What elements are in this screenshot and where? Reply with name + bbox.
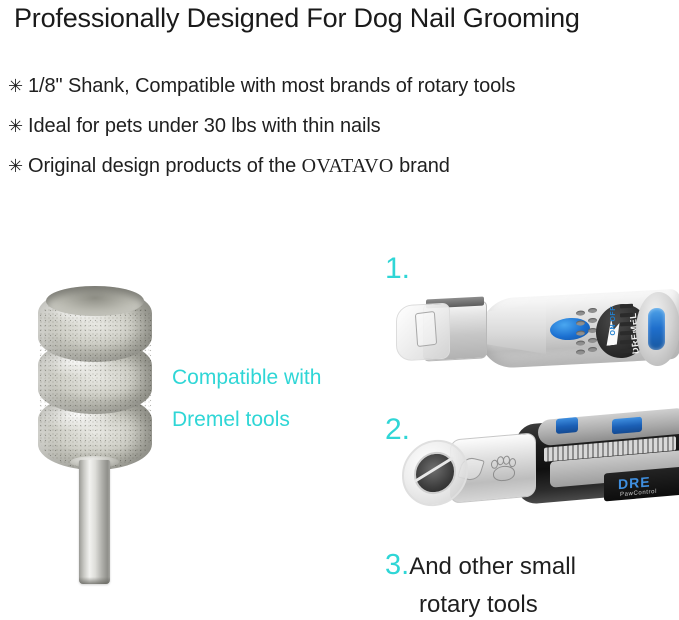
list-item: ✳ 1/8" Shank, Compatible with most brand…	[8, 66, 668, 106]
bullet-text: Original design products of the OVATAVO …	[28, 146, 450, 186]
rotary-tool-1-image: DREMEL ON OFF	[398, 282, 679, 378]
asterisk-icon: ✳	[8, 66, 28, 106]
paw-print-icon	[490, 455, 516, 481]
tool2-switch-a	[556, 417, 578, 434]
tool1-speed-dial	[648, 308, 665, 351]
tool1-switch-labels: ON OFF	[610, 306, 617, 335]
compatible-line-2: Dremel tools	[172, 405, 321, 435]
paw-toe-4	[509, 458, 516, 468]
step-3-block: 3.And other small rotary tools	[385, 548, 675, 620]
tool1-speed-scale	[620, 302, 636, 359]
rotary-tool-2-image: DRE PawControl	[398, 412, 679, 524]
step-3-text-line-2: rotary tools	[419, 588, 675, 620]
product-infographic: Professionally Designed For Dog Nail Gro…	[0, 0, 679, 620]
page-title: Professionally Designed For Dog Nail Gro…	[14, 2, 669, 34]
brand-name: OVATAVO	[302, 155, 394, 177]
step-3-text-line-1: And other small	[409, 553, 576, 580]
step-number-3: 3.	[385, 549, 409, 581]
compatible-line-1: Compatible with	[172, 366, 321, 389]
feature-bullet-list: ✳ 1/8" Shank, Compatible with most brand…	[8, 66, 668, 186]
list-item: ✳ Original design products of the OVATAV…	[8, 146, 668, 186]
tool2-brand-plate: DRE PawControl	[604, 467, 679, 502]
bullet-text: Ideal for pets under 30 lbs with thin na…	[28, 106, 381, 146]
asterisk-icon: ✳	[8, 106, 28, 146]
list-item: ✳ Ideal for pets under 30 lbs with thin …	[8, 106, 668, 146]
bullet-text: 1/8" Shank, Compatible with most brands …	[28, 66, 515, 106]
bit-top-cup	[46, 286, 144, 316]
step-number-1: 1.	[385, 252, 410, 286]
tool2-switch-b	[612, 417, 642, 435]
tool1-guard-lip	[415, 311, 437, 347]
compatible-callout: Compatible with Dremel tools	[172, 363, 321, 435]
grinding-bit-image	[30, 288, 160, 588]
bit-shank	[79, 460, 110, 584]
asterisk-icon: ✳	[8, 146, 28, 186]
